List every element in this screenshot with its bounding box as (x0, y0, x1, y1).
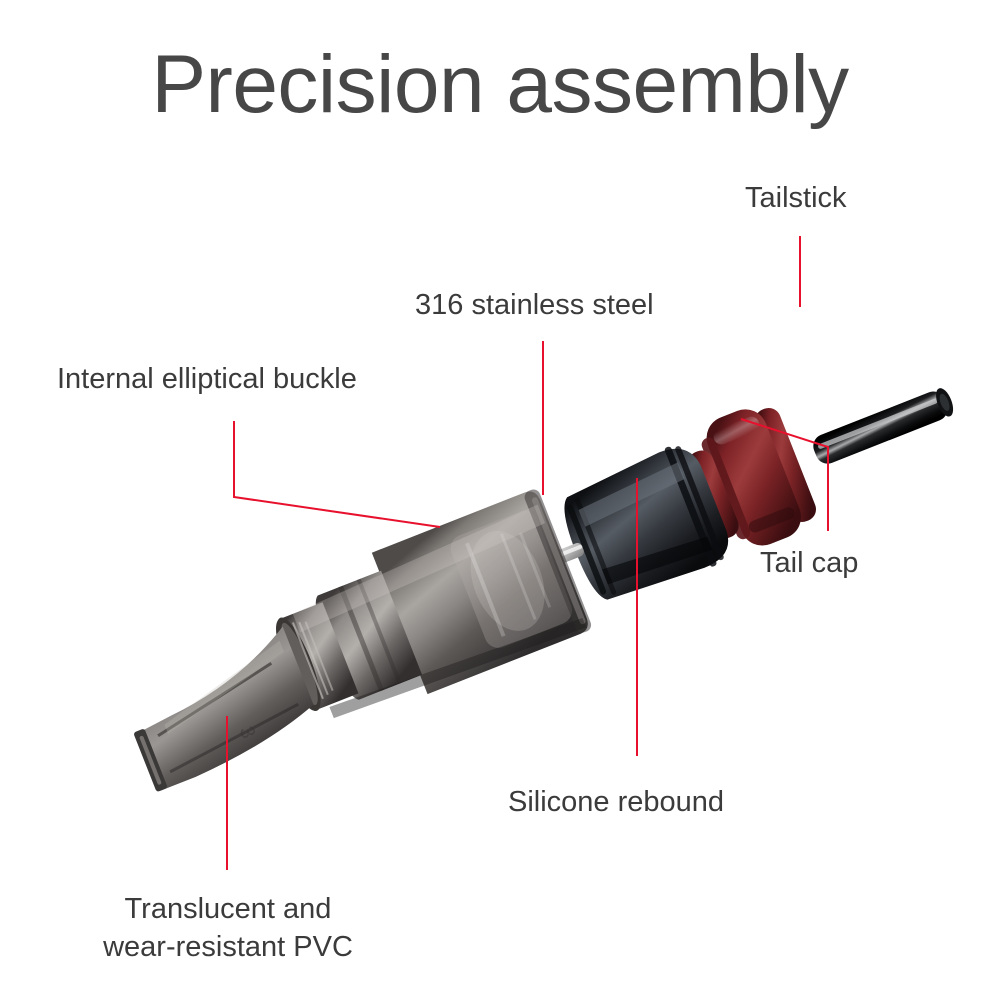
part-flat-tip: 3 (117, 626, 322, 792)
callout-label-translucent-pvc: Translucent and wear-resistant PVC (88, 891, 368, 966)
callout-label-tail-cap: Tail cap (760, 545, 858, 583)
callout-label-tailstick: Tailstick (745, 180, 847, 218)
product-illustration: 3 (0, 0, 1000, 1000)
callout-label-silicone-rebound: Silicone rebound (508, 784, 724, 822)
part-tailstick (810, 386, 957, 467)
diagram-canvas: 3 Precision assembly Tailstick 316 stain… (0, 0, 1000, 1000)
callout-label-internal-elliptical-buckle: Internal elliptical buckle (57, 361, 357, 399)
page-title: Precision assembly (0, 42, 1000, 128)
callout-label-stainless-steel: 316 stainless steel (415, 287, 654, 325)
